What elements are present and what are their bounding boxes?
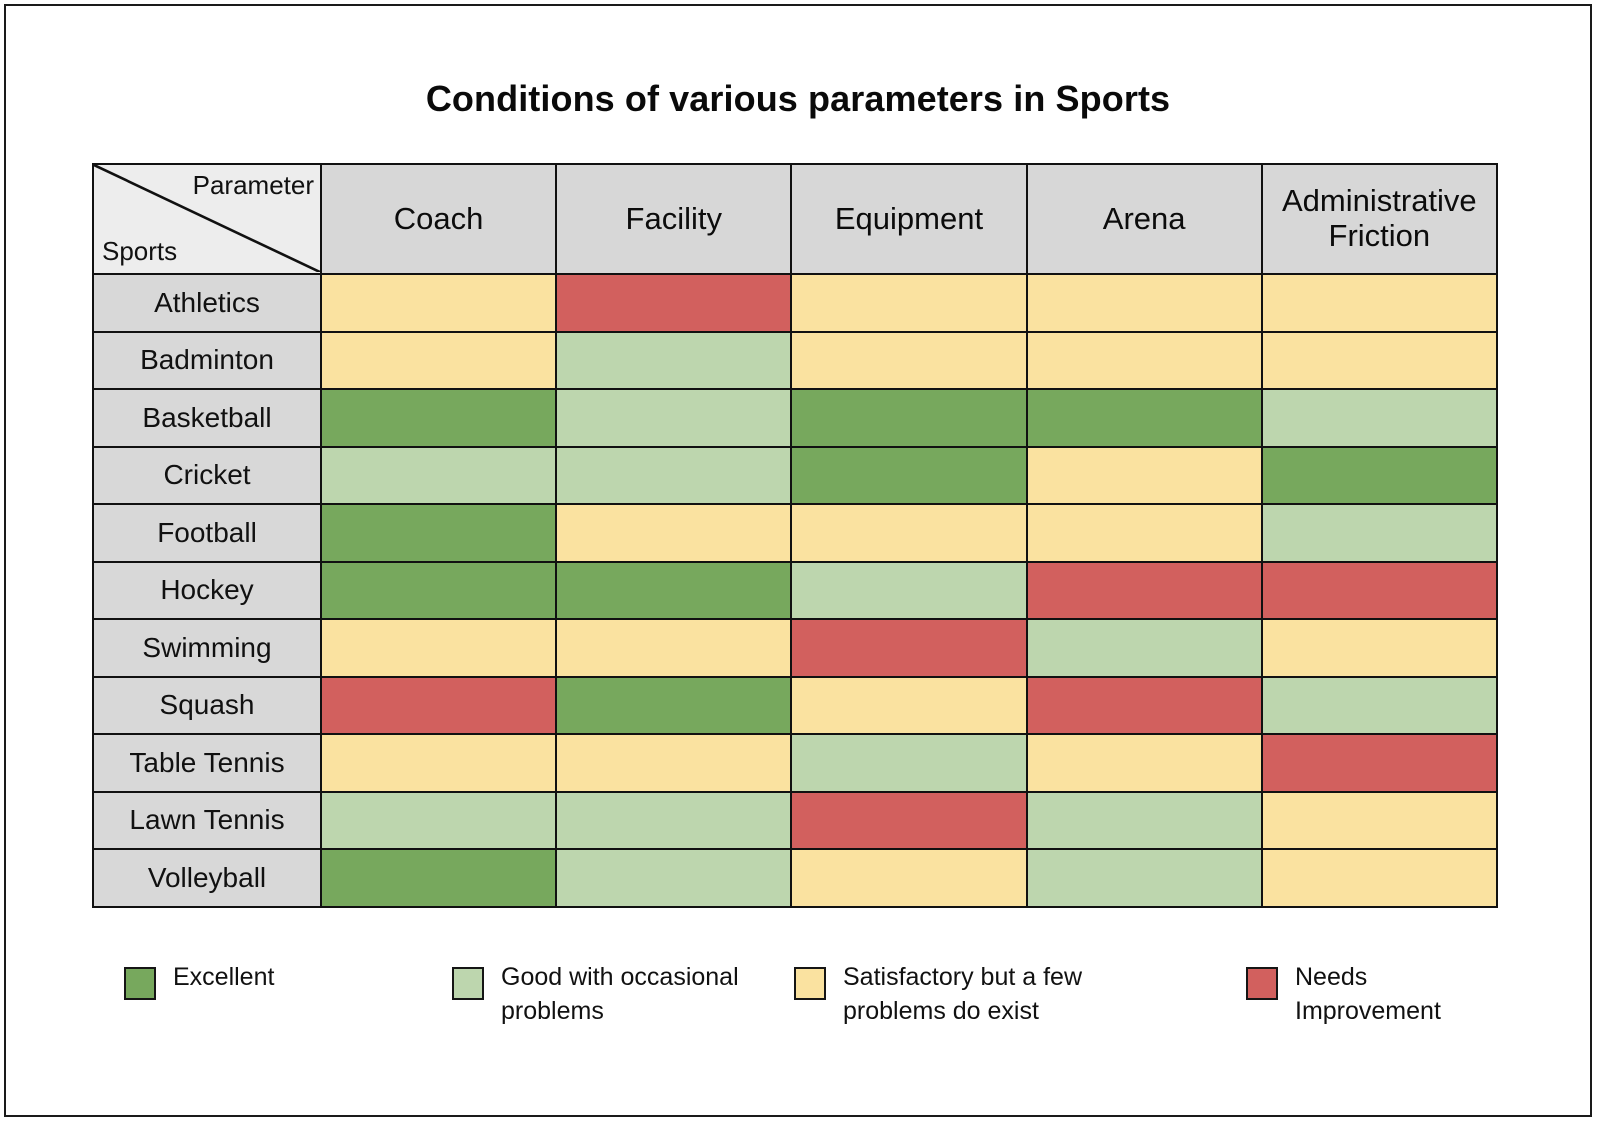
page-title: Conditions of various parameters in Spor…	[6, 78, 1590, 120]
column-header-arena[interactable]: Arena	[1027, 164, 1262, 274]
row-header-football[interactable]: Football	[93, 504, 321, 562]
cell-basketball-arena[interactable]	[1027, 389, 1262, 447]
legend-label-excellent: Excellent	[173, 961, 274, 995]
legend-item-satisfactory[interactable]: Satisfactory but a few problems do exist	[794, 961, 1246, 1029]
cell-athletics-facility[interactable]	[556, 274, 791, 332]
cell-hockey-coach[interactable]	[321, 562, 556, 620]
cell-table-tennis-equipment[interactable]	[791, 734, 1026, 792]
legend-swatch-excellent-icon	[124, 967, 156, 1000]
page-frame: Conditions of various parameters in Spor…	[4, 4, 1592, 1117]
table-row: Basketball	[93, 389, 1497, 447]
cell-table-tennis-arena[interactable]	[1027, 734, 1262, 792]
row-header-badminton[interactable]: Badminton	[93, 332, 321, 390]
row-header-hockey[interactable]: Hockey	[93, 562, 321, 620]
table-row: Athletics	[93, 274, 1497, 332]
cell-hockey-equipment[interactable]	[791, 562, 1026, 620]
legend-item-needs-improvement[interactable]: Needs Improvement	[1246, 961, 1506, 1029]
cell-basketball-administrative-friction[interactable]	[1262, 389, 1497, 447]
cell-lawn-tennis-arena[interactable]	[1027, 792, 1262, 850]
cell-squash-coach[interactable]	[321, 677, 556, 735]
cell-badminton-equipment[interactable]	[791, 332, 1026, 390]
table-row: Football	[93, 504, 1497, 562]
legend-swatch-satisfactory-icon	[794, 967, 826, 1000]
conditions-table: Parameter Sports Coach Facility Equipmen…	[92, 163, 1498, 908]
cell-cricket-administrative-friction[interactable]	[1262, 447, 1497, 505]
legend-item-good[interactable]: Good with occasional problems	[452, 961, 794, 1029]
cell-volleyball-administrative-friction[interactable]	[1262, 849, 1497, 907]
row-header-basketball[interactable]: Basketball	[93, 389, 321, 447]
column-header-facility[interactable]: Facility	[556, 164, 791, 274]
cell-hockey-administrative-friction[interactable]	[1262, 562, 1497, 620]
cell-squash-equipment[interactable]	[791, 677, 1026, 735]
table-row: Swimming	[93, 619, 1497, 677]
cell-football-arena[interactable]	[1027, 504, 1262, 562]
cell-swimming-arena[interactable]	[1027, 619, 1262, 677]
table-header: Parameter Sports Coach Facility Equipmen…	[93, 164, 1497, 274]
row-header-squash[interactable]: Squash	[93, 677, 321, 735]
table-row: Volleyball	[93, 849, 1497, 907]
row-header-lawn-tennis[interactable]: Lawn Tennis	[93, 792, 321, 850]
cell-badminton-coach[interactable]	[321, 332, 556, 390]
cell-athletics-arena[interactable]	[1027, 274, 1262, 332]
cell-lawn-tennis-equipment[interactable]	[791, 792, 1026, 850]
legend-swatch-good-icon	[452, 967, 484, 1000]
table-row: Cricket	[93, 447, 1497, 505]
table-body: AthleticsBadmintonBasketballCricketFootb…	[93, 274, 1497, 907]
cell-squash-administrative-friction[interactable]	[1262, 677, 1497, 735]
cell-volleyball-equipment[interactable]	[791, 849, 1026, 907]
legend-label-needs-improvement: Needs Improvement	[1295, 961, 1495, 1029]
cell-table-tennis-facility[interactable]	[556, 734, 791, 792]
corner-row-axis-label: Sports	[102, 236, 177, 267]
table-row: Hockey	[93, 562, 1497, 620]
row-header-table-tennis[interactable]: Table Tennis	[93, 734, 321, 792]
cell-lawn-tennis-administrative-friction[interactable]	[1262, 792, 1497, 850]
cell-football-facility[interactable]	[556, 504, 791, 562]
cell-cricket-equipment[interactable]	[791, 447, 1026, 505]
cell-football-administrative-friction[interactable]	[1262, 504, 1497, 562]
cell-swimming-coach[interactable]	[321, 619, 556, 677]
cell-lawn-tennis-facility[interactable]	[556, 792, 791, 850]
legend: Excellent Good with occasional problems …	[124, 961, 1524, 1029]
cell-badminton-administrative-friction[interactable]	[1262, 332, 1497, 390]
corner-column-axis-label: Parameter	[193, 170, 314, 201]
cell-swimming-facility[interactable]	[556, 619, 791, 677]
cell-hockey-facility[interactable]	[556, 562, 791, 620]
cell-squash-facility[interactable]	[556, 677, 791, 735]
corner-axis-cell: Parameter Sports	[93, 164, 321, 274]
legend-label-satisfactory: Satisfactory but a few problems do exist	[843, 961, 1133, 1029]
column-header-administrative-friction[interactable]: Administrative Friction	[1262, 164, 1497, 274]
cell-squash-arena[interactable]	[1027, 677, 1262, 735]
conditions-matrix: Parameter Sports Coach Facility Equipmen…	[92, 163, 1496, 908]
cell-football-coach[interactable]	[321, 504, 556, 562]
cell-badminton-arena[interactable]	[1027, 332, 1262, 390]
legend-swatch-needs-improvement-icon	[1246, 967, 1278, 1000]
column-header-coach[interactable]: Coach	[321, 164, 556, 274]
cell-swimming-administrative-friction[interactable]	[1262, 619, 1497, 677]
cell-volleyball-arena[interactable]	[1027, 849, 1262, 907]
cell-basketball-facility[interactable]	[556, 389, 791, 447]
cell-table-tennis-administrative-friction[interactable]	[1262, 734, 1497, 792]
column-header-equipment[interactable]: Equipment	[791, 164, 1026, 274]
cell-cricket-arena[interactable]	[1027, 447, 1262, 505]
cell-volleyball-facility[interactable]	[556, 849, 791, 907]
table-row: Table Tennis	[93, 734, 1497, 792]
cell-swimming-equipment[interactable]	[791, 619, 1026, 677]
cell-athletics-equipment[interactable]	[791, 274, 1026, 332]
table-row: Lawn Tennis	[93, 792, 1497, 850]
cell-athletics-coach[interactable]	[321, 274, 556, 332]
row-header-swimming[interactable]: Swimming	[93, 619, 321, 677]
row-header-athletics[interactable]: Athletics	[93, 274, 321, 332]
cell-basketball-equipment[interactable]	[791, 389, 1026, 447]
cell-lawn-tennis-coach[interactable]	[321, 792, 556, 850]
legend-item-excellent[interactable]: Excellent	[124, 961, 452, 1000]
row-header-volleyball[interactable]: Volleyball	[93, 849, 321, 907]
legend-label-good: Good with occasional problems	[501, 961, 771, 1029]
cell-athletics-administrative-friction[interactable]	[1262, 274, 1497, 332]
header-row: Parameter Sports Coach Facility Equipmen…	[93, 164, 1497, 274]
row-header-cricket[interactable]: Cricket	[93, 447, 321, 505]
table-row: Badminton	[93, 332, 1497, 390]
cell-basketball-coach[interactable]	[321, 389, 556, 447]
cell-cricket-coach[interactable]	[321, 447, 556, 505]
cell-table-tennis-coach[interactable]	[321, 734, 556, 792]
cell-hockey-arena[interactable]	[1027, 562, 1262, 620]
cell-volleyball-coach[interactable]	[321, 849, 556, 907]
cell-cricket-facility[interactable]	[556, 447, 791, 505]
cell-football-equipment[interactable]	[791, 504, 1026, 562]
table-row: Squash	[93, 677, 1497, 735]
cell-badminton-facility[interactable]	[556, 332, 791, 390]
